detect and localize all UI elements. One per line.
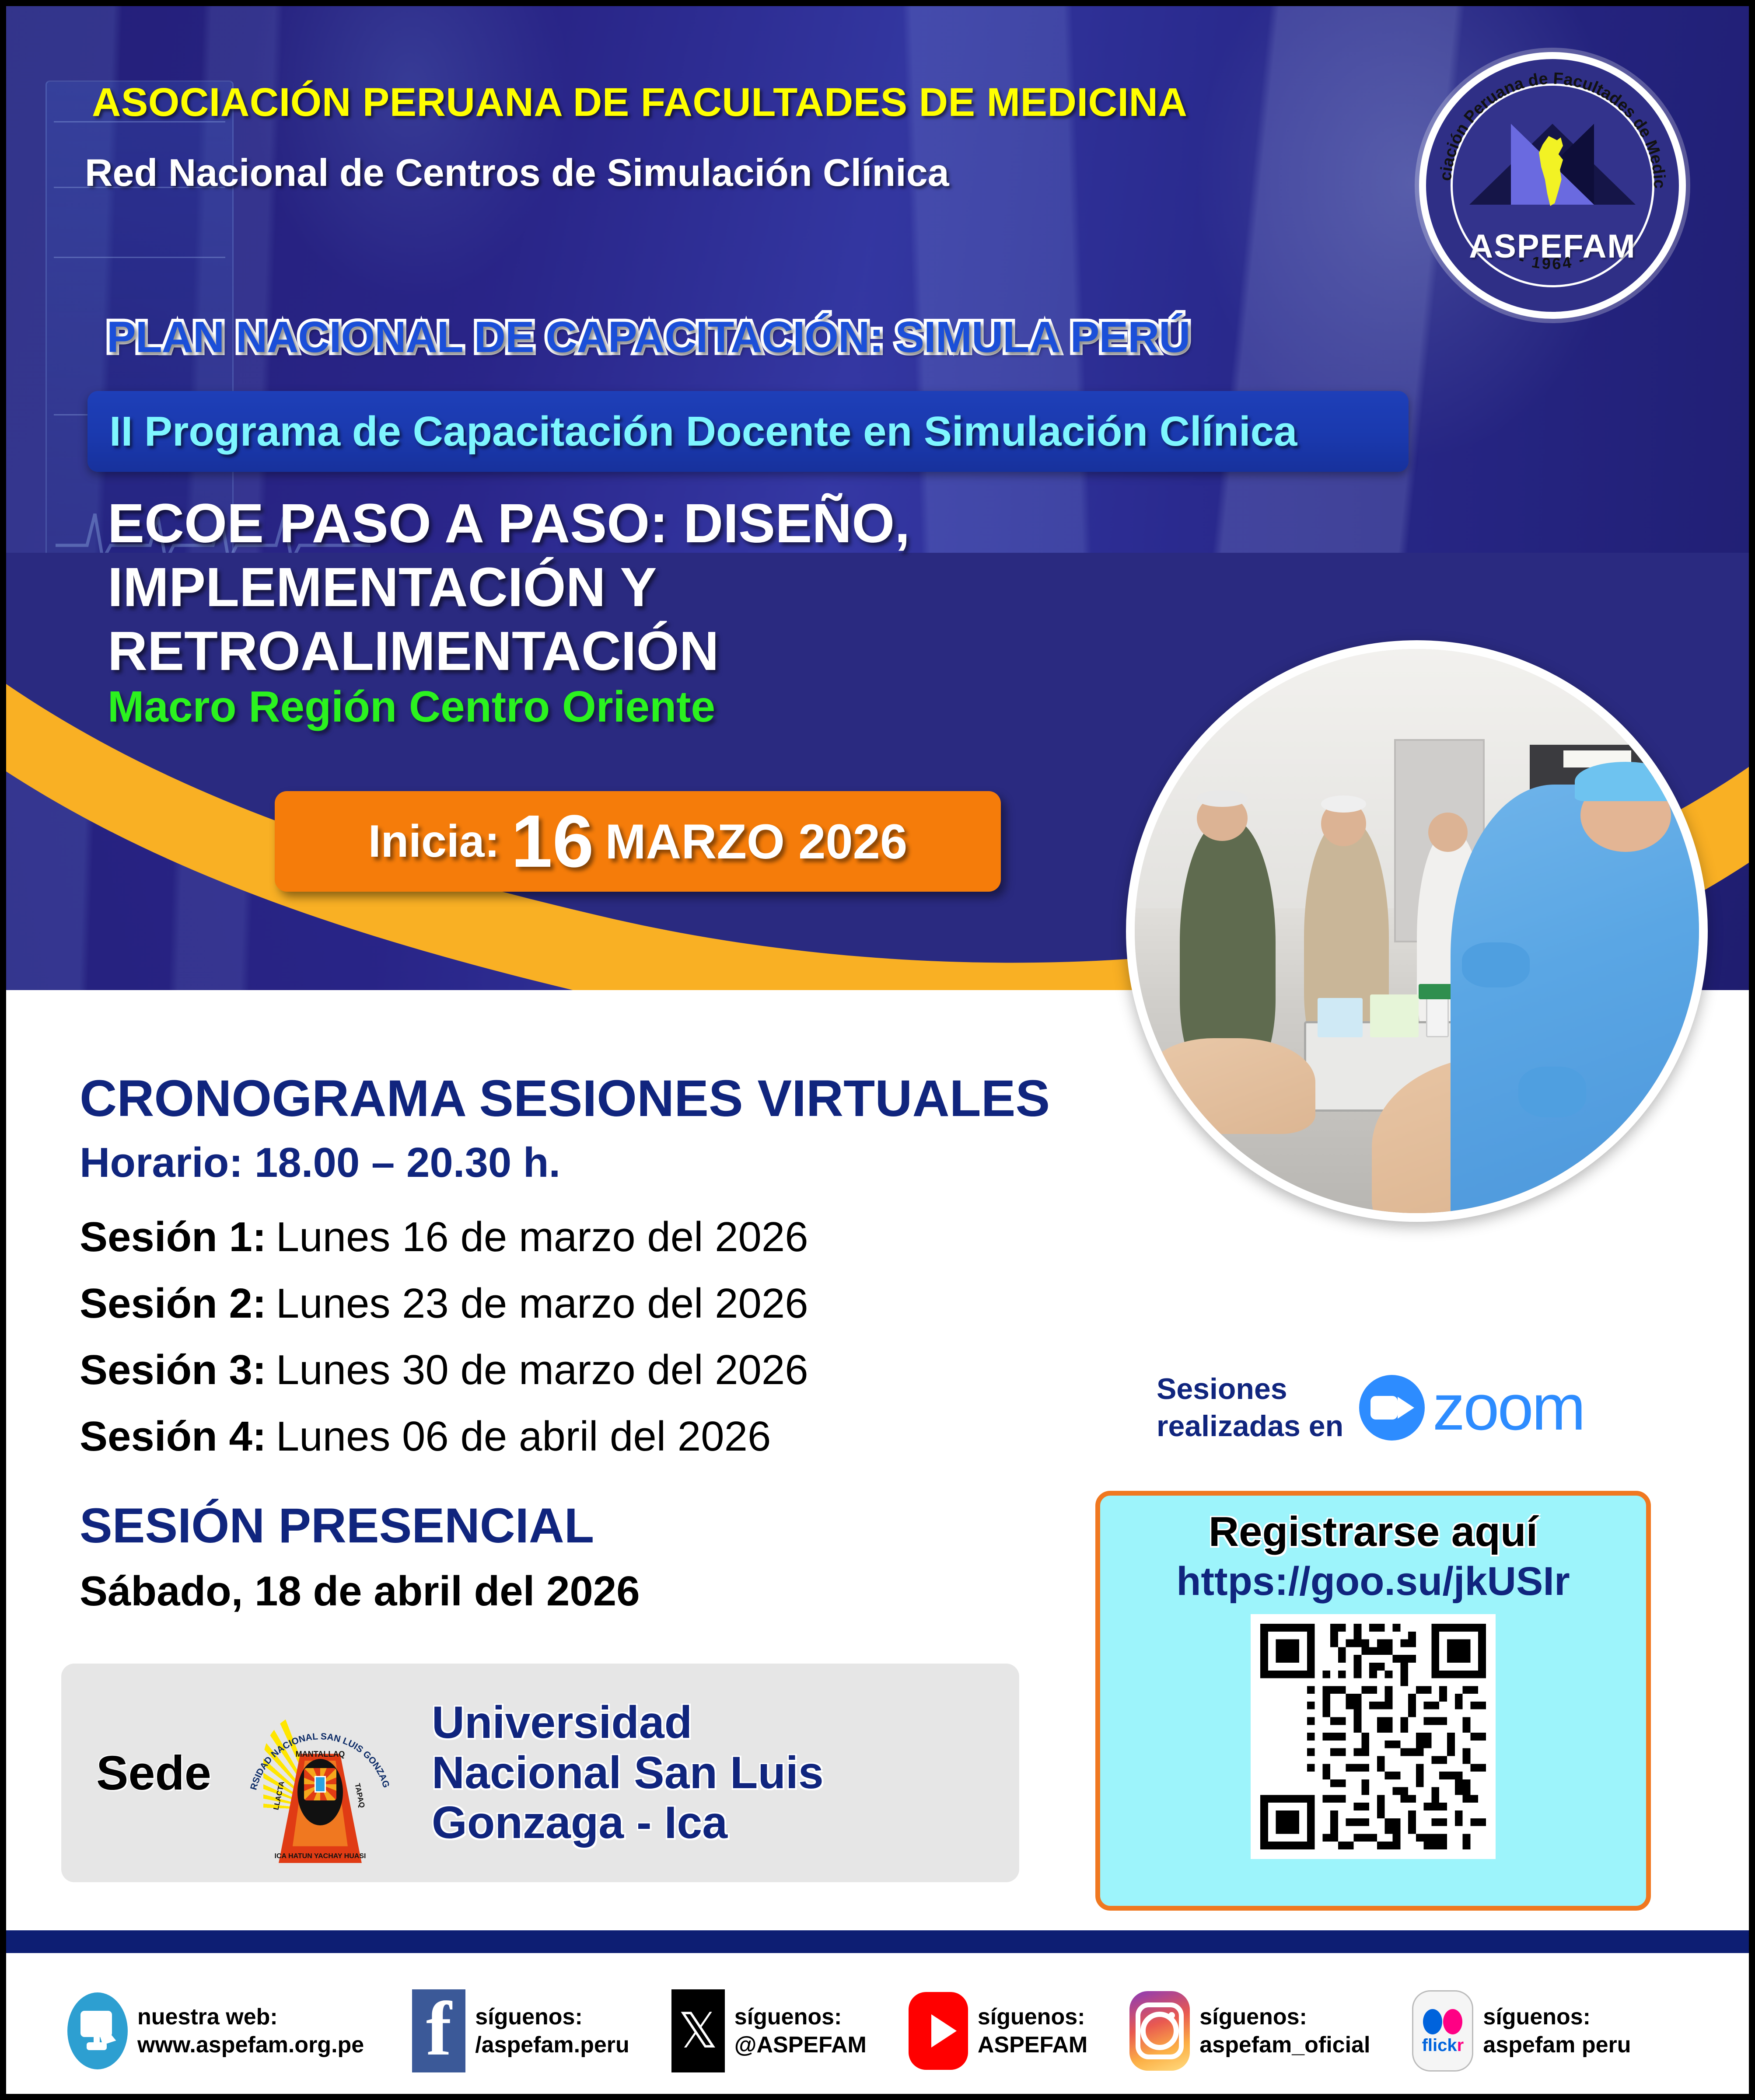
svg-text:TAPAQ: TAPAQ — [353, 1783, 366, 1809]
poster-root: ASOCIACIÓN PERUANA DE FACULTADES DE MEDI… — [0, 0, 1755, 2100]
schedule-title: CRONOGRAMA SESIONES VIRTUALES — [80, 1069, 1050, 1128]
footer-yt-line2: ASPEFAM — [978, 2031, 1087, 2059]
org-subtitle: Red Nacional de Centros de Simulación Cl… — [85, 150, 949, 195]
session-date: Lunes 30 de marzo del 2026 — [276, 1346, 808, 1394]
simulation-training-photo — [1126, 640, 1708, 1222]
photo-manikin-leg — [1146, 1038, 1315, 1134]
photo-instructor-gown — [1451, 785, 1708, 1213]
footer-item-instagram[interactable]: síguenos: aspefam_oficial — [1129, 1991, 1370, 2071]
registration-qr-code[interactable] — [1251, 1614, 1496, 1859]
footer-web-text: nuestra web: www.aspefam.org.pe — [137, 2003, 364, 2059]
flickr-icon: flickr — [1412, 1990, 1473, 2072]
start-date-prefix: Inicia: — [368, 816, 500, 868]
footer-ig-line1: síguenos: — [1199, 2003, 1370, 2031]
footer-web-line1: nuestra web: — [137, 2003, 364, 2031]
footer-fb-line1: síguenos: — [475, 2003, 629, 2031]
footer-fl-line2: aspefam peru — [1483, 2031, 1631, 2059]
footer-divider-bar — [6, 1930, 1755, 1953]
macro-region-label: Macro Región Centro Oriente — [108, 682, 715, 732]
svg-text:UNIVERSIDAD NACIONAL SAN LUIS: UNIVERSIDAD NACIONAL SAN LUIS GONZAGA - … — [226, 1679, 391, 1791]
svg-text:Asociación Peruana de Facultad: Asociación Peruana de Facultades de Medi… — [1426, 59, 1668, 189]
unica-ring-text: UNIVERSIDAD NACIONAL SAN LUIS GONZAGA - … — [226, 1679, 414, 1867]
instagram-icon — [1129, 1991, 1190, 2071]
svg-text:LLACTA: LLACTA — [272, 1780, 286, 1810]
footer-web-line2: www.aspefam.org.pe — [137, 2031, 364, 2059]
zoom-wordmark: zoom — [1433, 1371, 1584, 1445]
venue-univ-line3: Gonzaga - Ica — [432, 1798, 824, 1848]
footer-item-x[interactable]: síguenos: @ASPEFAM — [671, 1989, 867, 2072]
svg-text:- 1964 -: - 1964 - — [1517, 249, 1588, 273]
x-twitter-icon — [671, 1989, 725, 2072]
session-date: Lunes 23 de marzo del 2026 — [276, 1280, 808, 1328]
session-date: Lunes 06 de abril del 2026 — [276, 1413, 771, 1461]
social-footer: nuestra web: www.aspefam.org.pe síguenos… — [6, 1961, 1755, 2100]
photo-attendee-hair — [1321, 795, 1366, 813]
venue-label: Sede — [96, 1745, 211, 1801]
session-label: Sesión 3: — [80, 1346, 266, 1394]
session-row: Sesión 4: Lunes 06 de abril del 2026 — [80, 1413, 1042, 1479]
program-bar: II Programa de Capacitación Docente en S… — [87, 391, 1409, 472]
registration-title: Registrarse aquí — [1209, 1508, 1538, 1556]
start-date-month-year: MARZO 2026 — [605, 813, 907, 870]
program-bar-label: II Programa de Capacitación Docente en S… — [109, 408, 1297, 456]
footer-item-facebook[interactable]: síguenos: /aspefam.peru — [412, 1989, 629, 2072]
start-date-badge: Inicia: 16 MARZO 2026 — [275, 791, 1001, 892]
photo-attendee-hair — [1197, 790, 1248, 807]
session-label: Sesión 2: — [80, 1280, 266, 1328]
zoom-logo: zoom — [1359, 1371, 1584, 1445]
footer-facebook-text: síguenos: /aspefam.peru — [475, 2003, 629, 2059]
venue-univ-line1: Universidad — [432, 1698, 824, 1748]
photo-supply-box — [1318, 998, 1363, 1037]
web-monitor-icon — [67, 1992, 128, 2069]
photo-attendee-head — [1428, 813, 1468, 852]
footer-youtube-text: síguenos: ASPEFAM — [978, 2003, 1087, 2059]
footer-item-youtube[interactable]: síguenos: ASPEFAM — [909, 1992, 1087, 2070]
registration-box[interactable]: Registrarse aquí https://goo.su/jkUSIr — [1095, 1491, 1651, 1911]
zoom-caption-line1: Sesiones — [1157, 1371, 1343, 1408]
footer-x-text: síguenos: @ASPEFAM — [734, 2003, 867, 2059]
presencial-date: Sábado, 18 de abril del 2026 — [80, 1567, 640, 1615]
facebook-icon — [412, 1989, 465, 2072]
svg-text:MANTALLAQ: MANTALLAQ — [296, 1750, 345, 1758]
photo-supply-box — [1370, 994, 1419, 1037]
zoom-camera-icon — [1359, 1375, 1425, 1441]
presencial-title: SESIÓN PRESENCIAL — [80, 1497, 594, 1554]
session-date: Lunes 16 de marzo del 2026 — [276, 1213, 808, 1261]
photo-instructor-cap — [1575, 762, 1676, 801]
org-name: ASOCIACIÓN PERUANA DE FACULTADES DE MEDI… — [92, 80, 1187, 126]
session-row: Sesión 2: Lunes 23 de marzo del 2026 — [80, 1280, 1042, 1346]
footer-flickr-text: síguenos: aspefam peru — [1483, 2003, 1631, 2059]
footer-instagram-text: síguenos: aspefam_oficial — [1199, 2003, 1370, 2059]
venue-univ-line2: Nacional San Luis — [432, 1748, 824, 1798]
photo-gloved-hand — [1518, 1067, 1586, 1117]
session-row: Sesión 1: Lunes 16 de marzo del 2026 — [80, 1213, 1042, 1280]
footer-fl-line1: síguenos: — [1483, 2003, 1631, 2031]
zoom-caption-line2: realizadas en — [1157, 1408, 1343, 1445]
plan-banner-title: PLAN NACIONAL DE CAPACITACIÓN: SIMULA PE… — [107, 312, 1190, 363]
footer-x-line1: síguenos: — [734, 2003, 867, 2031]
footer-item-web[interactable]: nuestra web: www.aspefam.org.pe — [67, 1992, 364, 2069]
session-row: Sesión 3: Lunes 30 de marzo del 2026 — [80, 1346, 1042, 1413]
zoom-platform-block: Sesiones realizadas en zoom — [1157, 1371, 1584, 1445]
footer-fb-line2: /aspefam.peru — [475, 2031, 629, 2059]
venue-box: Sede UNIVERSIDAD NACIONAL SAN LUIS GONZA… — [61, 1664, 1019, 1882]
schedule-time: Horario: 18.00 – 20.30 h. — [80, 1139, 560, 1187]
footer-ig-line2: aspefam_oficial — [1199, 2031, 1370, 2059]
youtube-icon — [909, 1992, 968, 2070]
qr-code-icon — [1260, 1624, 1486, 1849]
sessions-list: Sesión 1: Lunes 16 de marzo del 2026 Ses… — [80, 1213, 1042, 1479]
footer-yt-line1: síguenos: — [978, 2003, 1087, 2031]
footer-x-line2: @ASPEFAM — [734, 2031, 867, 2059]
svg-text:ICA HATUN YACHAY HUASI: ICA HATUN YACHAY HUASI — [274, 1852, 366, 1860]
registration-url[interactable]: https://goo.su/jkUSIr — [1176, 1559, 1570, 1605]
aspefam-logo-seal: ASPEFAM Asociación Peruana de Facultades… — [1419, 52, 1686, 319]
session-label: Sesión 1: — [80, 1213, 266, 1261]
footer-item-flickr[interactable]: flickr síguenos: aspefam peru — [1412, 1990, 1631, 2072]
photo-gloved-hand — [1462, 942, 1530, 987]
venue-university-name: Universidad Nacional San Luis Gonzaga - … — [432, 1698, 824, 1848]
zoom-caption: Sesiones realizadas en — [1157, 1371, 1343, 1445]
seal-ring-text: Asociación Peruana de Facultades de Medi… — [1426, 59, 1679, 312]
unica-university-logo: UNIVERSIDAD NACIONAL SAN LUIS GONZAGA - … — [226, 1679, 414, 1867]
start-date-day: 16 — [511, 808, 594, 875]
session-label: Sesión 4: — [80, 1413, 266, 1461]
photo-room-bg — [1135, 649, 1699, 1213]
